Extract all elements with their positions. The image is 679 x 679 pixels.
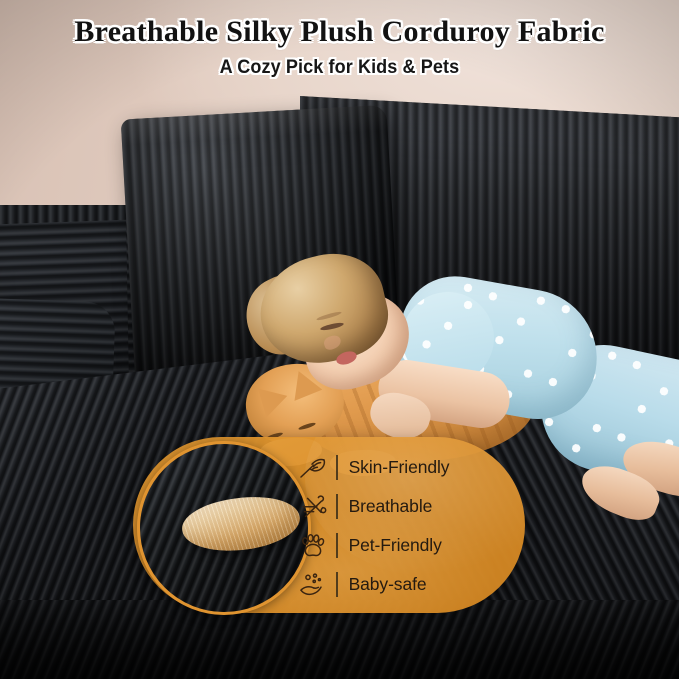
paw-closeup-cutout (137, 441, 311, 615)
feature-label-pet-friendly: Pet-Friendly (349, 535, 442, 556)
feature-row-breathable: Breathable (296, 488, 516, 525)
product-image: Breathable Silky Plush Corduroy Fabric A… (0, 0, 679, 679)
header-block: Breathable Silky Plush Corduroy Fabric A… (0, 14, 679, 79)
feature-row-baby-safe: Baby-safe (296, 566, 516, 603)
paw-print-icon (296, 531, 330, 561)
feature-divider (336, 572, 338, 597)
feature-divider (336, 455, 338, 480)
page-subtitle: A Cozy Pick for Kids & Pets (17, 57, 662, 80)
feature-row-skin-friendly: Skin-Friendly (296, 449, 516, 486)
feature-row-pet-friendly: Pet-Friendly (296, 527, 516, 564)
feather-icon (296, 453, 330, 483)
feature-label-breathable: Breathable (349, 496, 433, 517)
feature-divider (336, 494, 338, 519)
feature-label-skin-friendly: Skin-Friendly (349, 457, 450, 478)
feature-label-baby-safe: Baby-safe (349, 574, 427, 595)
wind-icon (296, 492, 330, 522)
page-title: Breathable Silky Plush Corduroy Fabric (0, 14, 679, 51)
feature-list: Skin-Friendly Breathable (296, 449, 516, 605)
feature-divider (336, 533, 338, 558)
hand-bubbles-icon (296, 570, 330, 600)
